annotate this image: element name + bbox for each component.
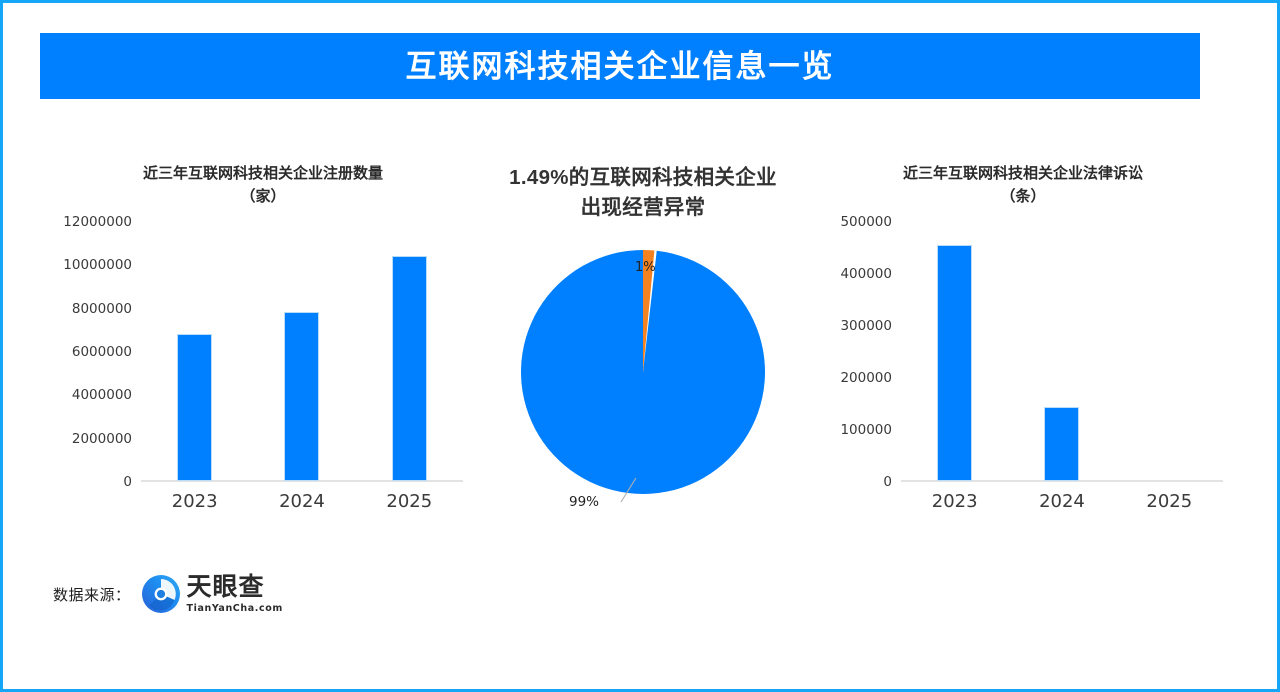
x-tick-label: 2025: [356, 482, 463, 512]
bar-slot: [141, 222, 248, 480]
pie-chart: [513, 242, 773, 502]
bar-2025[interactable]: [393, 257, 426, 480]
y-tick-label: 8000000: [72, 301, 141, 317]
y-tick-label: 12000000: [63, 214, 141, 230]
y-tick-label: 10000000: [63, 257, 141, 273]
data-source-footer: 数据来源： 天眼查 TianYanCha.com: [53, 573, 283, 615]
bar-slot: [1008, 222, 1115, 480]
chart-lawsuits-title-main: 近三年互联网科技相关企业法律诉讼: [903, 165, 1143, 182]
aperture-icon: [140, 573, 182, 615]
bar-slot: [901, 222, 1008, 480]
bar-slot: [248, 222, 355, 480]
y-tick-label: 200000: [840, 370, 901, 386]
bar-slot: [1116, 222, 1223, 480]
chart-lawsuits-bars: [901, 222, 1223, 480]
chart-registrations-plot: 1200000010000000800000060000004000000200…: [63, 222, 463, 482]
pie-label-major: 99%: [569, 494, 599, 510]
x-tick-label: 2023: [901, 482, 1008, 512]
y-tick-label: 0: [883, 474, 901, 490]
data-source-label: 数据来源：: [53, 584, 131, 605]
infographic-page: 互联网科技相关企业信息一览 近三年互联网科技相关企业注册数量 （家） 12000…: [0, 0, 1280, 692]
chart-abnormal-title-line1: 1.49%的互联网科技相关企业: [509, 166, 777, 189]
y-tick-label: 6000000: [72, 344, 141, 360]
bar-2024[interactable]: [1045, 408, 1078, 480]
bar-2023[interactable]: [938, 246, 971, 480]
y-tick-label: 100000: [840, 422, 901, 438]
chart-registrations-title-main: 近三年互联网科技相关企业注册数量: [143, 165, 383, 182]
page-title: 互联网科技相关企业信息一览: [406, 51, 835, 82]
y-tick-label: 0: [123, 474, 141, 490]
chart-abnormal-title-line2: 出现经营异常: [473, 193, 813, 223]
tianyancha-logo: 天眼查 TianYanCha.com: [140, 573, 283, 615]
logo-name-cn: 天眼查: [187, 575, 283, 600]
pie-label-minor: 1%: [635, 260, 656, 275]
pie-chart-wrap: 1% 99%: [473, 242, 813, 542]
bar-2024[interactable]: [285, 313, 318, 480]
chart-registrations-title-unit: （家）: [63, 186, 463, 209]
y-tick-label: 400000: [840, 266, 901, 282]
chart-registrations-x-axis: 202320242025: [141, 482, 463, 512]
x-tick-label: 2024: [248, 482, 355, 512]
logo-wordmark: 天眼查 TianYanCha.com: [187, 575, 283, 614]
chart-lawsuits-plot: 5000004000003000002000001000000 20232024…: [823, 222, 1223, 482]
chart-abnormal-operations: 1.49%的互联网科技相关企业 出现经营异常 1% 99%: [473, 163, 813, 543]
y-tick-label: 4000000: [72, 387, 141, 403]
logo-name-en: TianYanCha.com: [187, 603, 283, 614]
y-tick-label: 300000: [840, 318, 901, 334]
chart-lawsuits: 近三年互联网科技相关企业法律诉讼 （条） 5000004000003000002…: [823, 163, 1223, 543]
chart-registrations: 近三年互联网科技相关企业注册数量 （家） 1200000010000000800…: [63, 163, 463, 543]
y-tick-label: 500000: [840, 214, 901, 230]
x-tick-label: 2023: [141, 482, 248, 512]
page-title-banner: 互联网科技相关企业信息一览: [40, 33, 1200, 99]
x-tick-label: 2025: [1116, 482, 1223, 512]
chart-lawsuits-x-axis: 202320242025: [901, 482, 1223, 512]
chart-lawsuits-title: 近三年互联网科技相关企业法律诉讼 （条）: [823, 163, 1223, 208]
chart-registrations-title: 近三年互联网科技相关企业注册数量 （家）: [63, 163, 463, 208]
bar-slot: [356, 222, 463, 480]
chart-lawsuits-title-unit: （条）: [823, 186, 1223, 209]
bar-2023[interactable]: [178, 335, 211, 480]
x-tick-label: 2024: [1008, 482, 1115, 512]
chart-abnormal-title: 1.49%的互联网科技相关企业 出现经营异常: [473, 163, 813, 222]
chart-registrations-bars: [141, 222, 463, 480]
y-tick-label: 2000000: [72, 431, 141, 447]
